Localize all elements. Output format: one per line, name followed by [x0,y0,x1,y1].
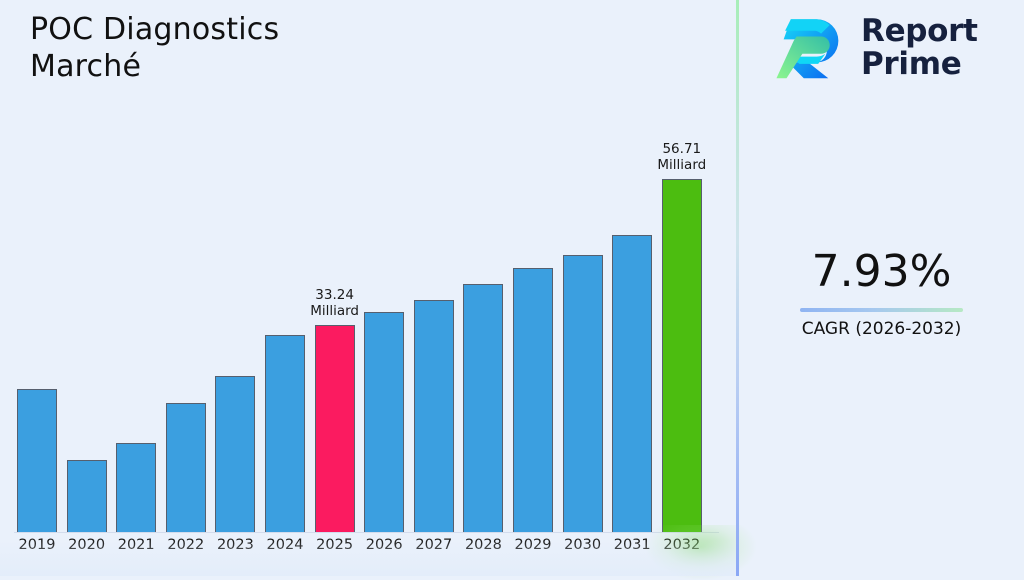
cagr-value: 7.93% [739,246,1024,298]
bar-chart-plot: 33.24 Milliard56.71 Milliard 20192020202… [0,0,737,576]
bar-2022 [166,403,206,532]
bar-2020 [67,460,107,532]
tick-label-2032: 2032 [652,537,712,553]
bar-2023 [215,376,255,532]
value-label-2025: 33.24 Milliard [275,287,395,319]
bar-2027 [414,300,454,532]
bar-2031 [612,235,652,532]
brand-logo: Report Prime [775,12,978,84]
bar-2028 [463,284,503,532]
cagr-label: CAGR (2026-2032) [739,318,1024,340]
cagr-divider-rule [800,308,963,312]
bar-2026 [364,312,404,532]
bar-2021 [116,443,156,532]
value-label-2032: 56.71 Milliard [622,141,742,173]
chart-panel: POC Diagnostics Marché 33.24 Milliard56.… [0,0,737,576]
bar-2024 [265,335,305,532]
side-panel: Report Prime 7.93% CAGR (2026-2032) [739,0,1024,576]
bar-2032 [662,179,702,532]
bar-2019 [17,389,57,532]
bar-2030 [563,255,603,532]
x-axis-line [14,532,719,533]
bar-2025 [315,325,355,532]
screenshot-root: POC Diagnostics Marché 33.24 Milliard56.… [0,0,1024,576]
bar-2029 [513,268,553,532]
report-prime-logo-icon [775,12,847,84]
brand-name: Report Prime [861,15,978,81]
cagr-block: 7.93% CAGR (2026-2032) [739,246,1024,340]
